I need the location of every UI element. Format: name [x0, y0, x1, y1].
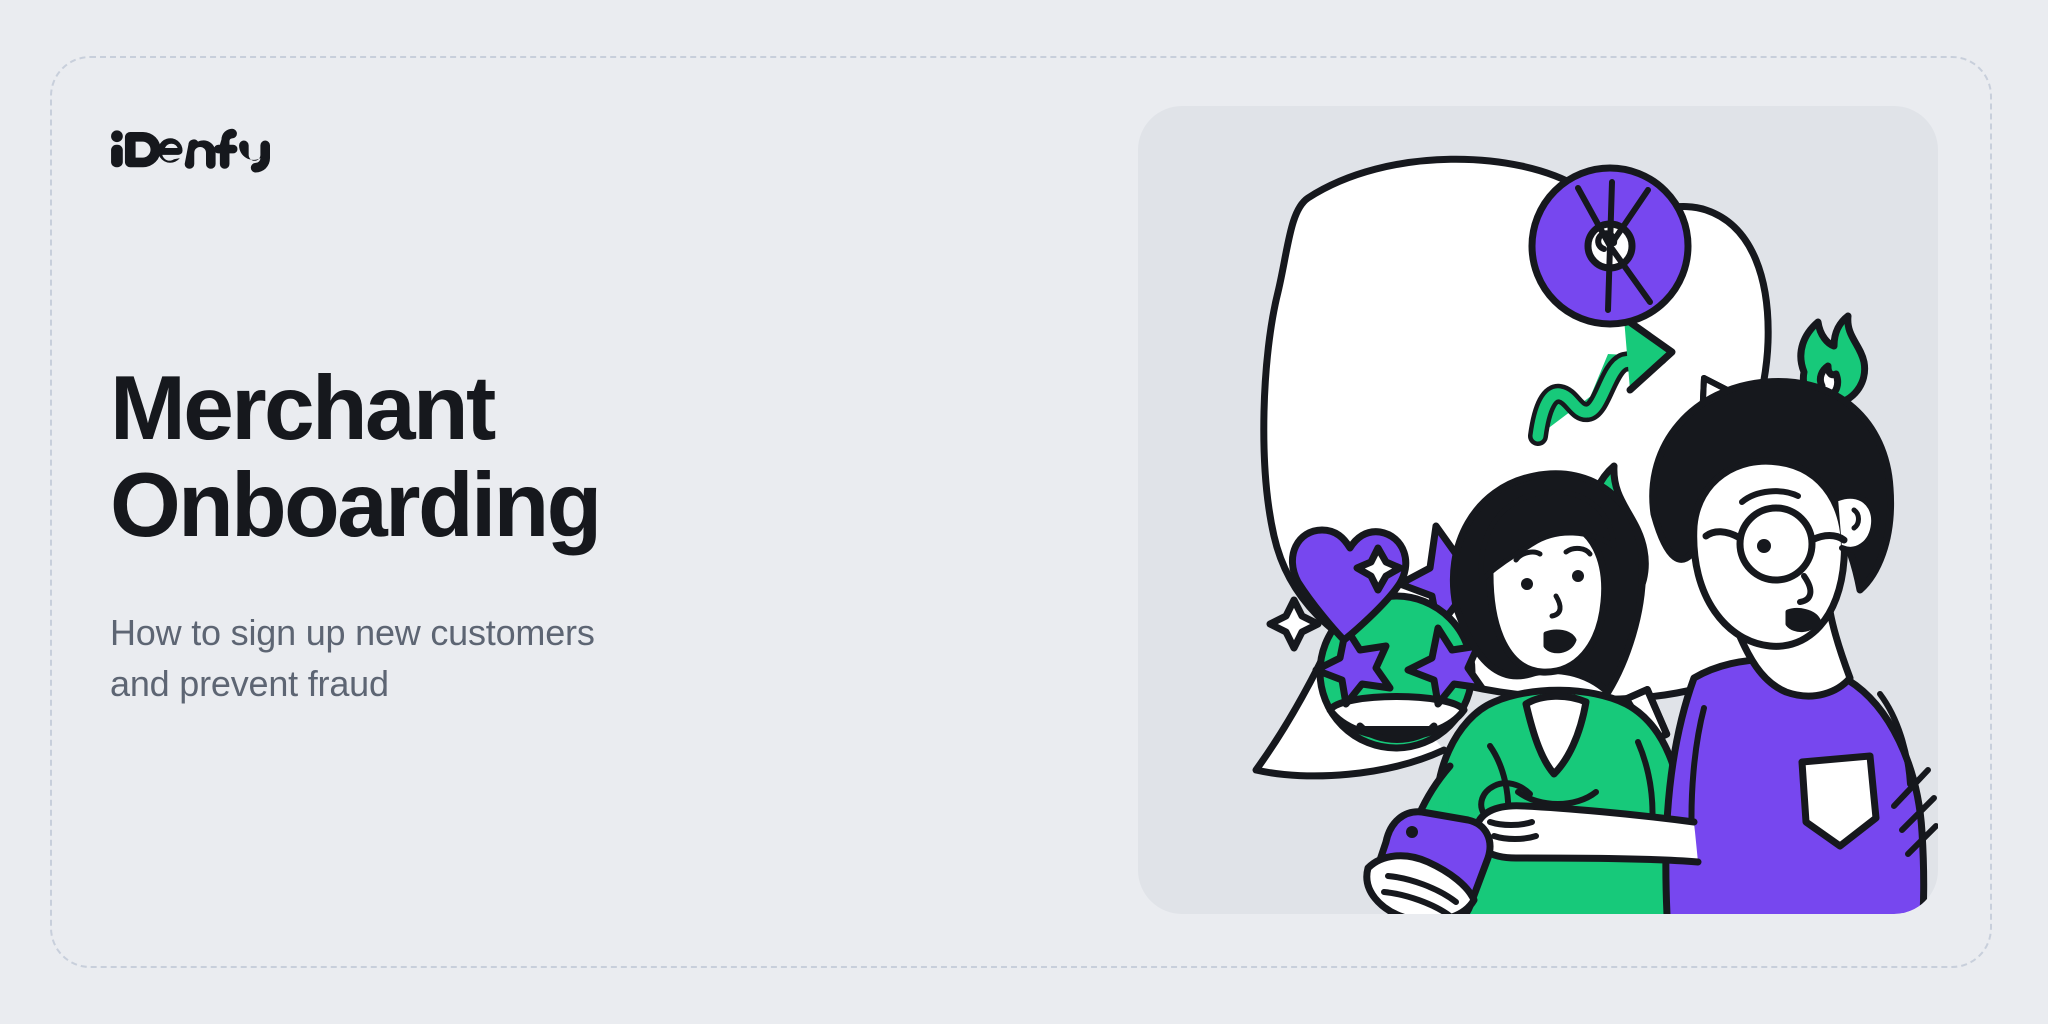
page-subtitle: How to sign up new customers and prevent… [110, 607, 750, 709]
page-title-line-2: Onboarding [110, 457, 870, 554]
vinyl-record-icon [1532, 168, 1688, 324]
illustration-card [1138, 106, 1938, 914]
idenfy-logo-mark [110, 122, 270, 174]
page-title: Merchant Onboarding [110, 360, 870, 555]
page-title-line-1: Merchant [110, 360, 870, 457]
idenfy-logo[interactable] [110, 122, 270, 174]
page-subtitle-line-1: How to sign up new customers [110, 607, 750, 658]
hero-text-column: Merchant Onboarding How to sign up new c… [110, 0, 870, 1024]
page-subtitle-line-2: and prevent fraud [110, 658, 750, 709]
illustration-artwork [1138, 106, 1938, 914]
slide-canvas: Merchant Onboarding How to sign up new c… [0, 0, 2048, 1024]
